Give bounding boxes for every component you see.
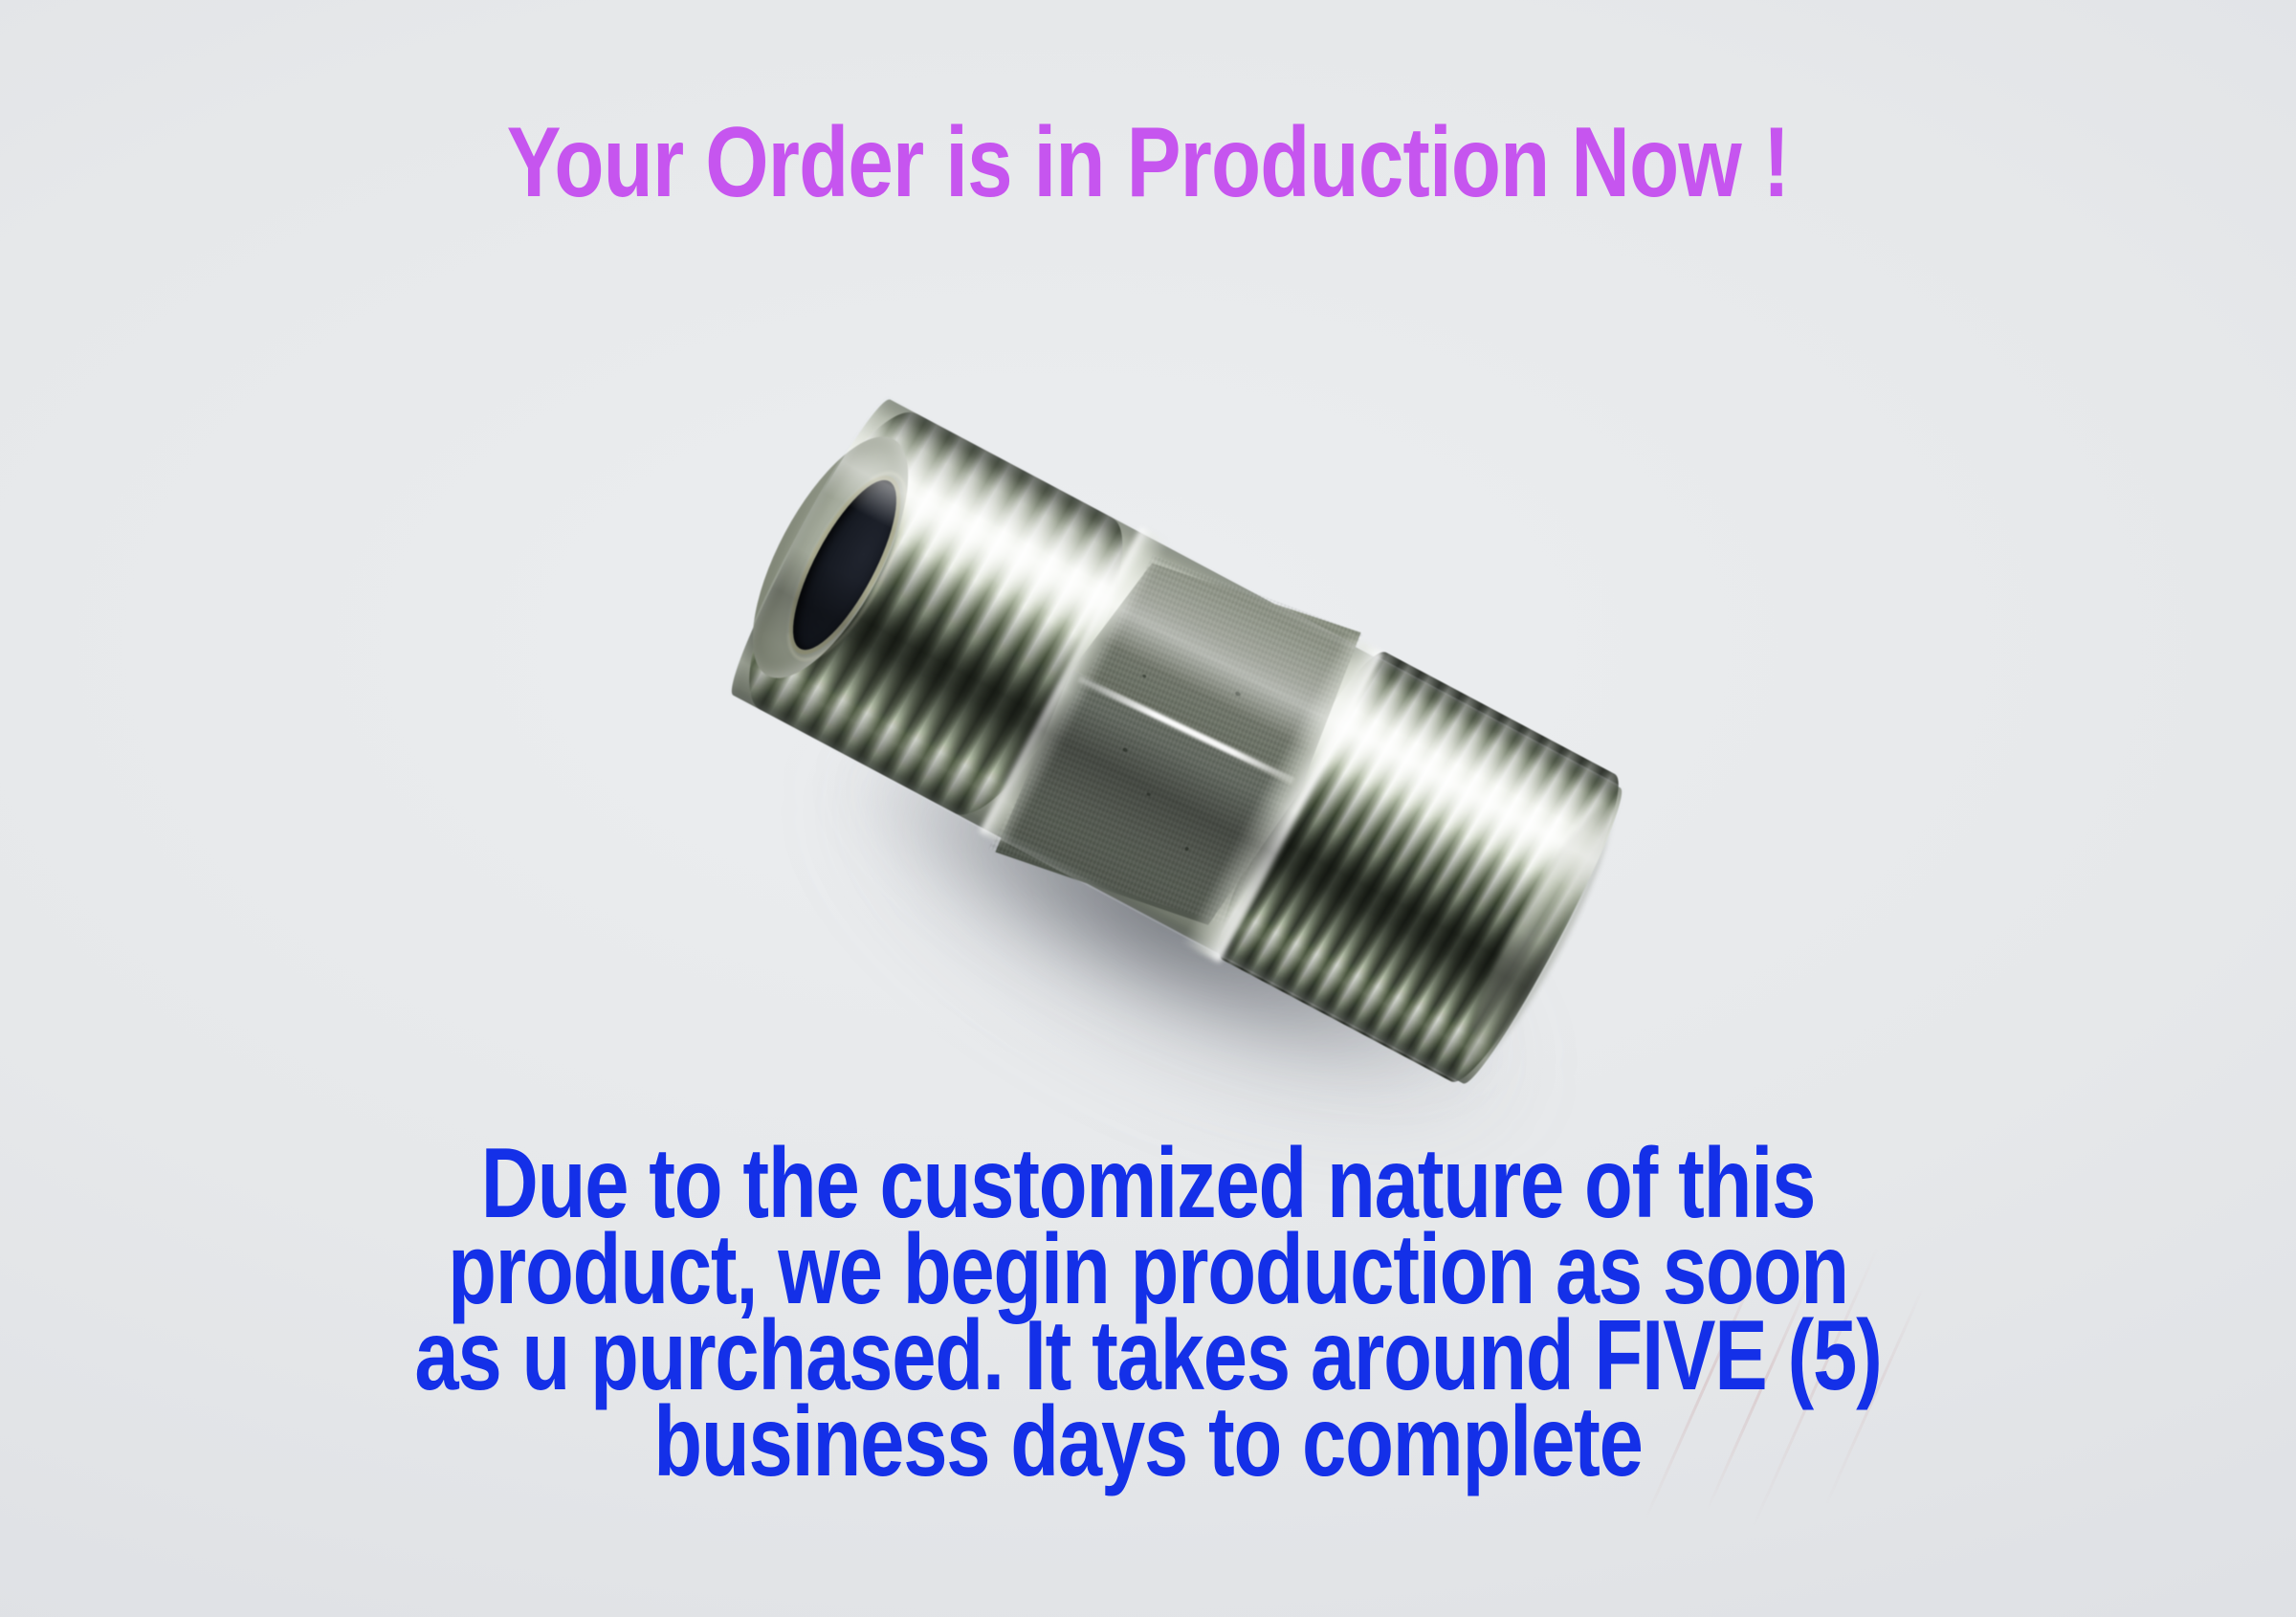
hex-nipple-fitting: [718, 391, 1636, 1092]
fitting-bore-opening: [774, 468, 916, 663]
right-thread-section: [1198, 639, 1640, 1095]
production-notice-text: Due to the customized nature of this pro…: [230, 1141, 2066, 1485]
bore-rim-highlight: [764, 455, 931, 677]
fitting-end-face: [722, 415, 939, 700]
page-title: Your Order is in Production Now !: [207, 113, 2089, 212]
edge-softening: [716, 389, 1638, 1095]
fitting-far-end: [1449, 795, 1630, 1073]
left-thread-section: [718, 391, 1155, 835]
notice-line: business days to complete: [230, 1399, 2066, 1485]
fitting-body: [718, 391, 1636, 1092]
product-drop-shadow: [717, 595, 1636, 1205]
hex-wrench-flats: [980, 521, 1380, 964]
promo-banner: Your Order is in Production Now ! Due to…: [0, 0, 2296, 1617]
metal-gloss-overlay: [718, 391, 1636, 1092]
